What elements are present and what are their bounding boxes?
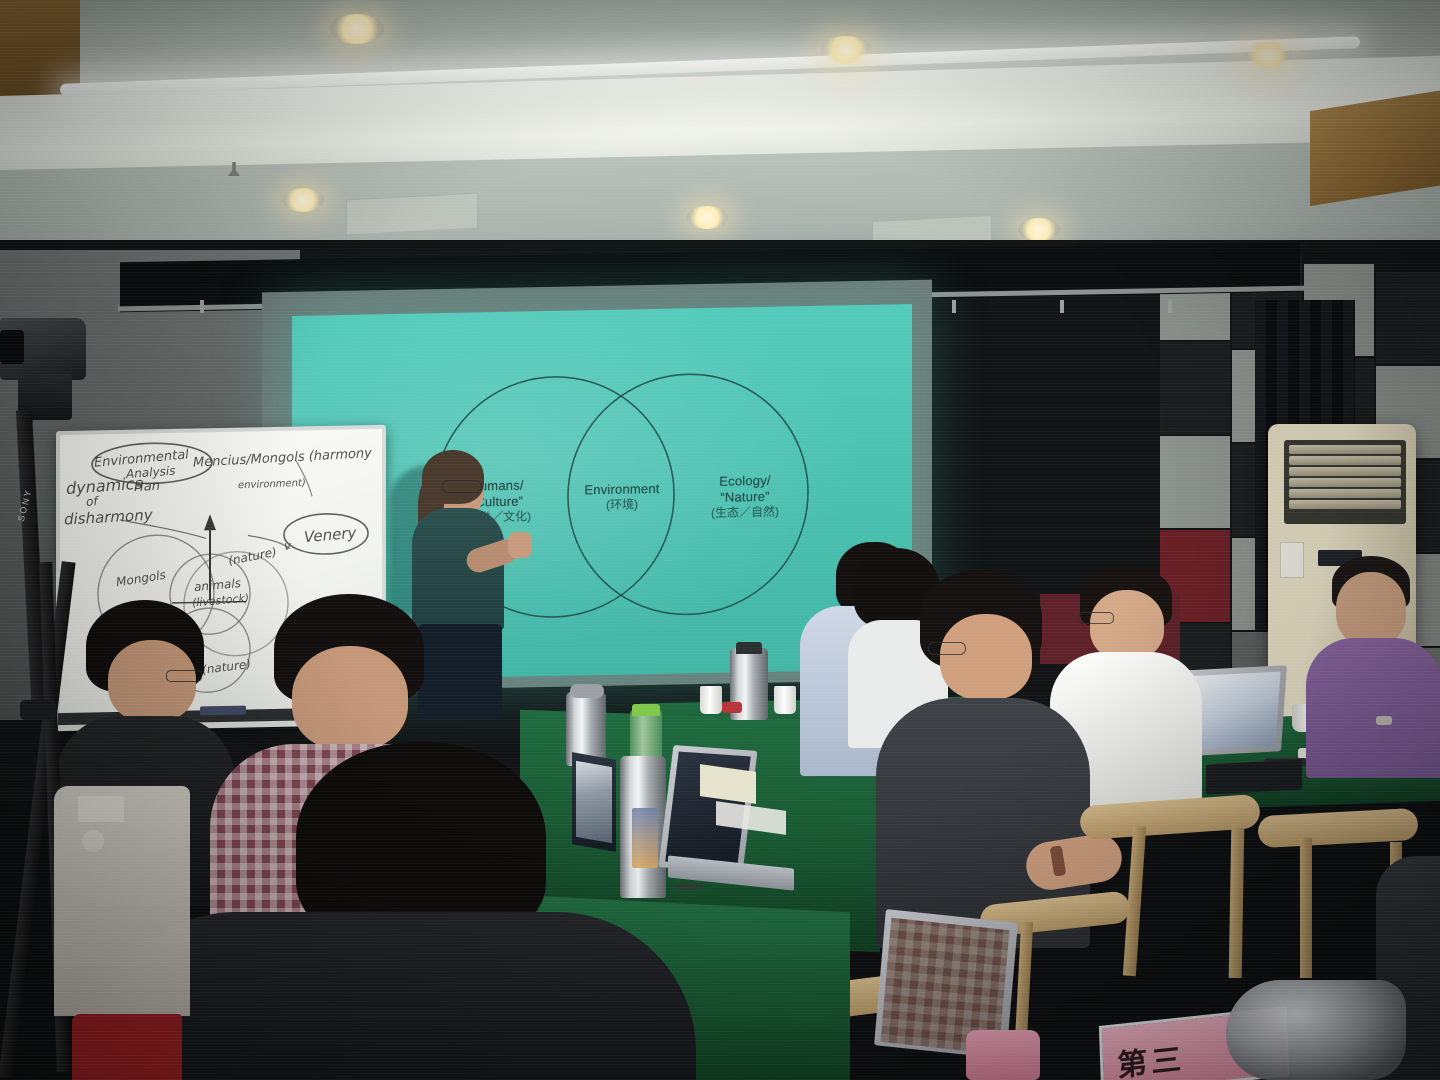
attendee-head [292, 646, 408, 750]
attendee-head [940, 614, 1032, 700]
downlight-icon [1244, 42, 1292, 68]
red-object [722, 702, 742, 713]
venn-center-cn: (环境) [566, 496, 678, 513]
whiteboard-note: v [284, 539, 291, 553]
thermos-handle-icon [570, 684, 604, 698]
chair-leg [1300, 838, 1312, 978]
chair-leg [1229, 828, 1245, 978]
ac-label-sticker [1280, 542, 1304, 578]
table-sign-text: 第三 [1116, 1034, 1185, 1080]
paper-cup[interactable] [774, 686, 796, 714]
red-cloth [72, 1014, 182, 1080]
downlight-icon [820, 36, 872, 64]
camera-lens-icon [0, 330, 24, 364]
downlight-icon [282, 188, 324, 212]
downlight-icon [686, 206, 728, 229]
venn-right-cn: (生态／自然) [688, 504, 802, 521]
ac-grille-icon [1284, 440, 1406, 524]
watch-icon [1376, 716, 1392, 725]
attendee-head [1336, 572, 1406, 646]
thermos-lid [736, 642, 762, 654]
curtain-hook-icon [952, 300, 956, 313]
laptop-bag [1206, 759, 1302, 794]
whiteboard-note: of [86, 494, 98, 509]
venn-label-right: Ecology/ “Nature” (生态／自然) [688, 472, 802, 521]
curtain-hook-icon [1168, 300, 1172, 313]
attendee-purple [1304, 556, 1440, 776]
chrome-ornament [1226, 980, 1406, 1080]
glasses-icon [442, 480, 482, 493]
paper-cup[interactable] [700, 686, 722, 714]
tripod-collar [20, 700, 56, 720]
glasses-icon [166, 670, 202, 682]
downlight-icon [330, 14, 384, 44]
venn-label-center: Environment (环境) [566, 481, 678, 514]
pink-mug[interactable] [966, 1030, 1040, 1080]
curtain-hook-icon [200, 300, 204, 313]
downlight-icon [1018, 218, 1060, 241]
presenter-hand-icon [508, 532, 532, 558]
seminar-room-photo: Humans/ “Culture” (人类／文化) Environment (环… [0, 0, 1440, 1080]
white-cloth [54, 786, 190, 1016]
attendee-torso [1306, 638, 1440, 778]
curtain-hook-icon [1060, 300, 1064, 313]
ceiling-vent [346, 193, 478, 236]
bottle-cap-icon [632, 704, 660, 716]
glasses-icon [928, 642, 966, 655]
